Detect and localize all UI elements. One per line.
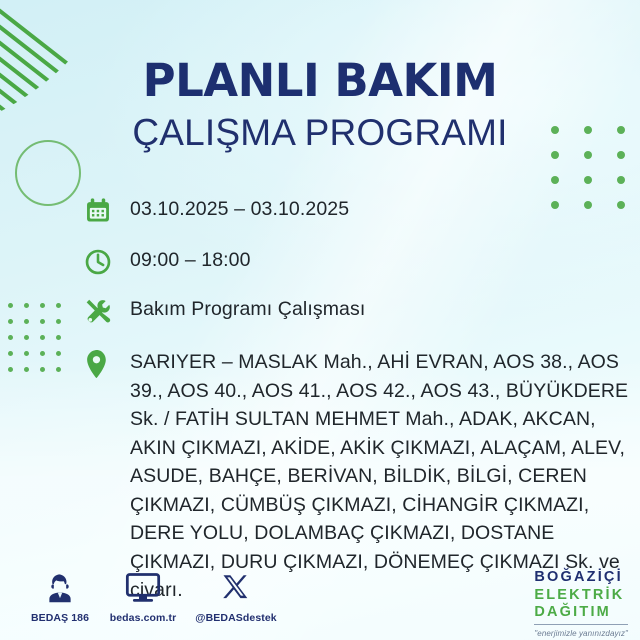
time-range-value: 09:00 – 18:00	[130, 247, 251, 273]
logo-line-2: ELEKTRİK	[534, 588, 628, 603]
location-pin-icon	[84, 348, 130, 379]
contact-website-label: bedas.com.tr	[100, 612, 186, 624]
info-row-work: Bakım Programı Çalışması	[84, 296, 632, 326]
dot-grid-left-decoration	[8, 303, 72, 383]
calendar-icon	[84, 196, 130, 225]
contact-x[interactable]: @BEDASdestek	[186, 572, 286, 624]
logo-line-3: DAĞITIM	[534, 605, 628, 620]
poster-root: PLANLI BAKIM ÇALIŞMA PROGRAMI 03.10.2025…	[0, 0, 640, 640]
contact-phone[interactable]: BEDAŞ 186	[20, 572, 100, 624]
logo-line-1: BOĞAZİÇİ	[534, 570, 628, 585]
page-title: PLANLI BAKIM ÇALIŞMA PROGRAMI	[0, 58, 640, 154]
contact-website[interactable]: bedas.com.tr	[100, 572, 186, 624]
headset-support-icon	[43, 572, 77, 604]
title-primary: PLANLI BAKIM	[0, 58, 640, 103]
info-row-time: 09:00 – 18:00	[84, 247, 632, 276]
clock-icon	[84, 247, 130, 276]
bedas-logo: BOĞAZİÇİ ELEKTRİK DAĞITIM "enerjimizle y…	[534, 570, 628, 638]
x-twitter-icon	[220, 572, 252, 604]
info-row-date: 03.10.2025 – 03.10.2025	[84, 196, 632, 225]
logo-divider	[534, 624, 628, 625]
title-secondary: ÇALIŞMA PROGRAMI	[0, 113, 640, 154]
tools-icon	[84, 296, 130, 326]
info-list: 03.10.2025 – 03.10.2025 09:00 – 18:00	[84, 196, 632, 623]
logo-slogan: "enerjimizle yanınızdayız"	[534, 630, 628, 638]
contact-phone-label: BEDAŞ 186	[20, 612, 100, 624]
contact-x-label: @BEDASdestek	[186, 612, 286, 624]
date-range-value: 03.10.2025 – 03.10.2025	[130, 196, 349, 222]
monitor-icon	[125, 572, 161, 604]
work-type-value: Bakım Programı Çalışması	[130, 296, 365, 322]
footer: BEDAŞ 186 bedas.com.tr @BEDASdestek BOĞA…	[0, 564, 640, 640]
